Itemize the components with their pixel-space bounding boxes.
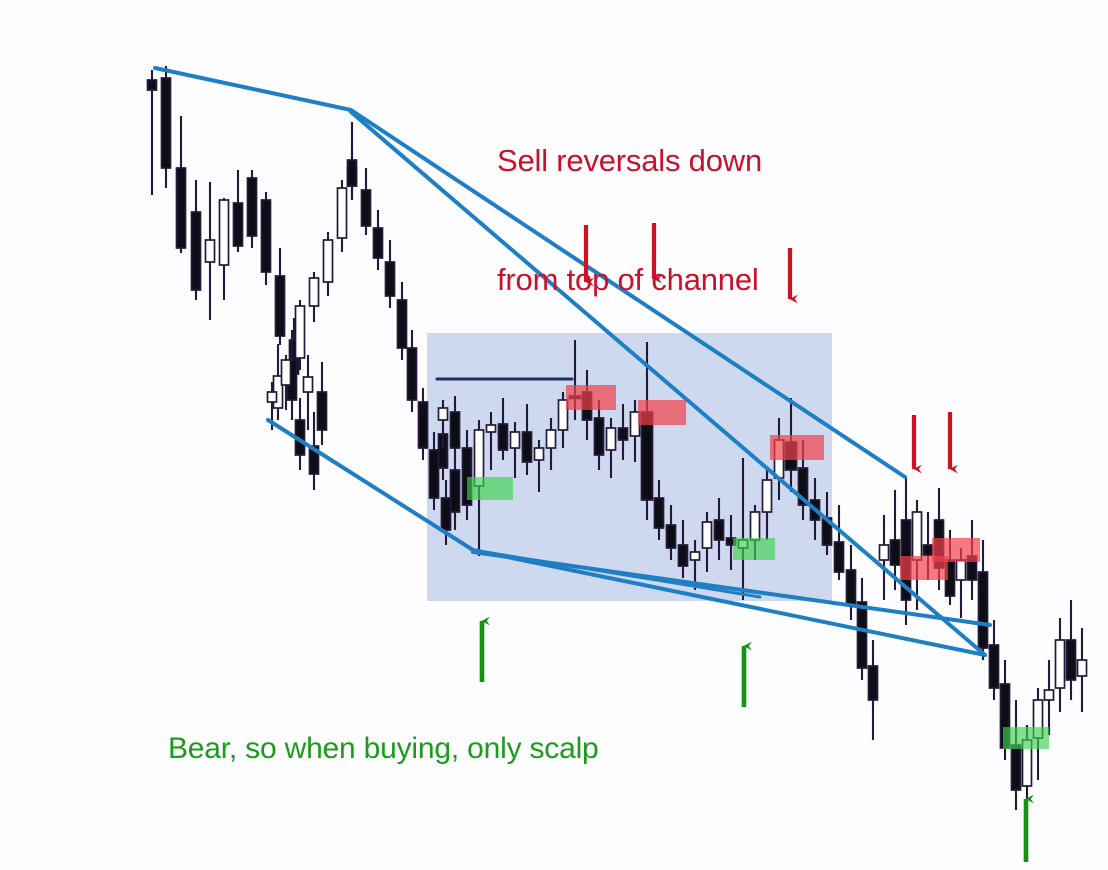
sell-signal-highlight — [932, 538, 980, 562]
sell-reversals-note: Sell reversals down from top of channel — [497, 62, 762, 379]
sell-note-line-2: from top of channel — [497, 260, 762, 300]
bear-scalp-note: Bear, so when buying, only scalp — [168, 730, 599, 768]
buy-signal-highlight — [733, 538, 775, 560]
buy-signal-highlight — [467, 477, 513, 500]
chart-canvas: Sell reversals down from top of channel … — [0, 0, 1108, 870]
sell-signal-highlight — [638, 400, 686, 425]
sell-signal-highlight — [770, 435, 824, 460]
candlestick — [262, 192, 271, 285]
sell-signal-highlight — [566, 385, 616, 410]
candlestick — [248, 170, 257, 248]
buy-signal-highlight — [1003, 727, 1049, 749]
sell-note-line-1: Sell reversals down — [497, 141, 762, 181]
